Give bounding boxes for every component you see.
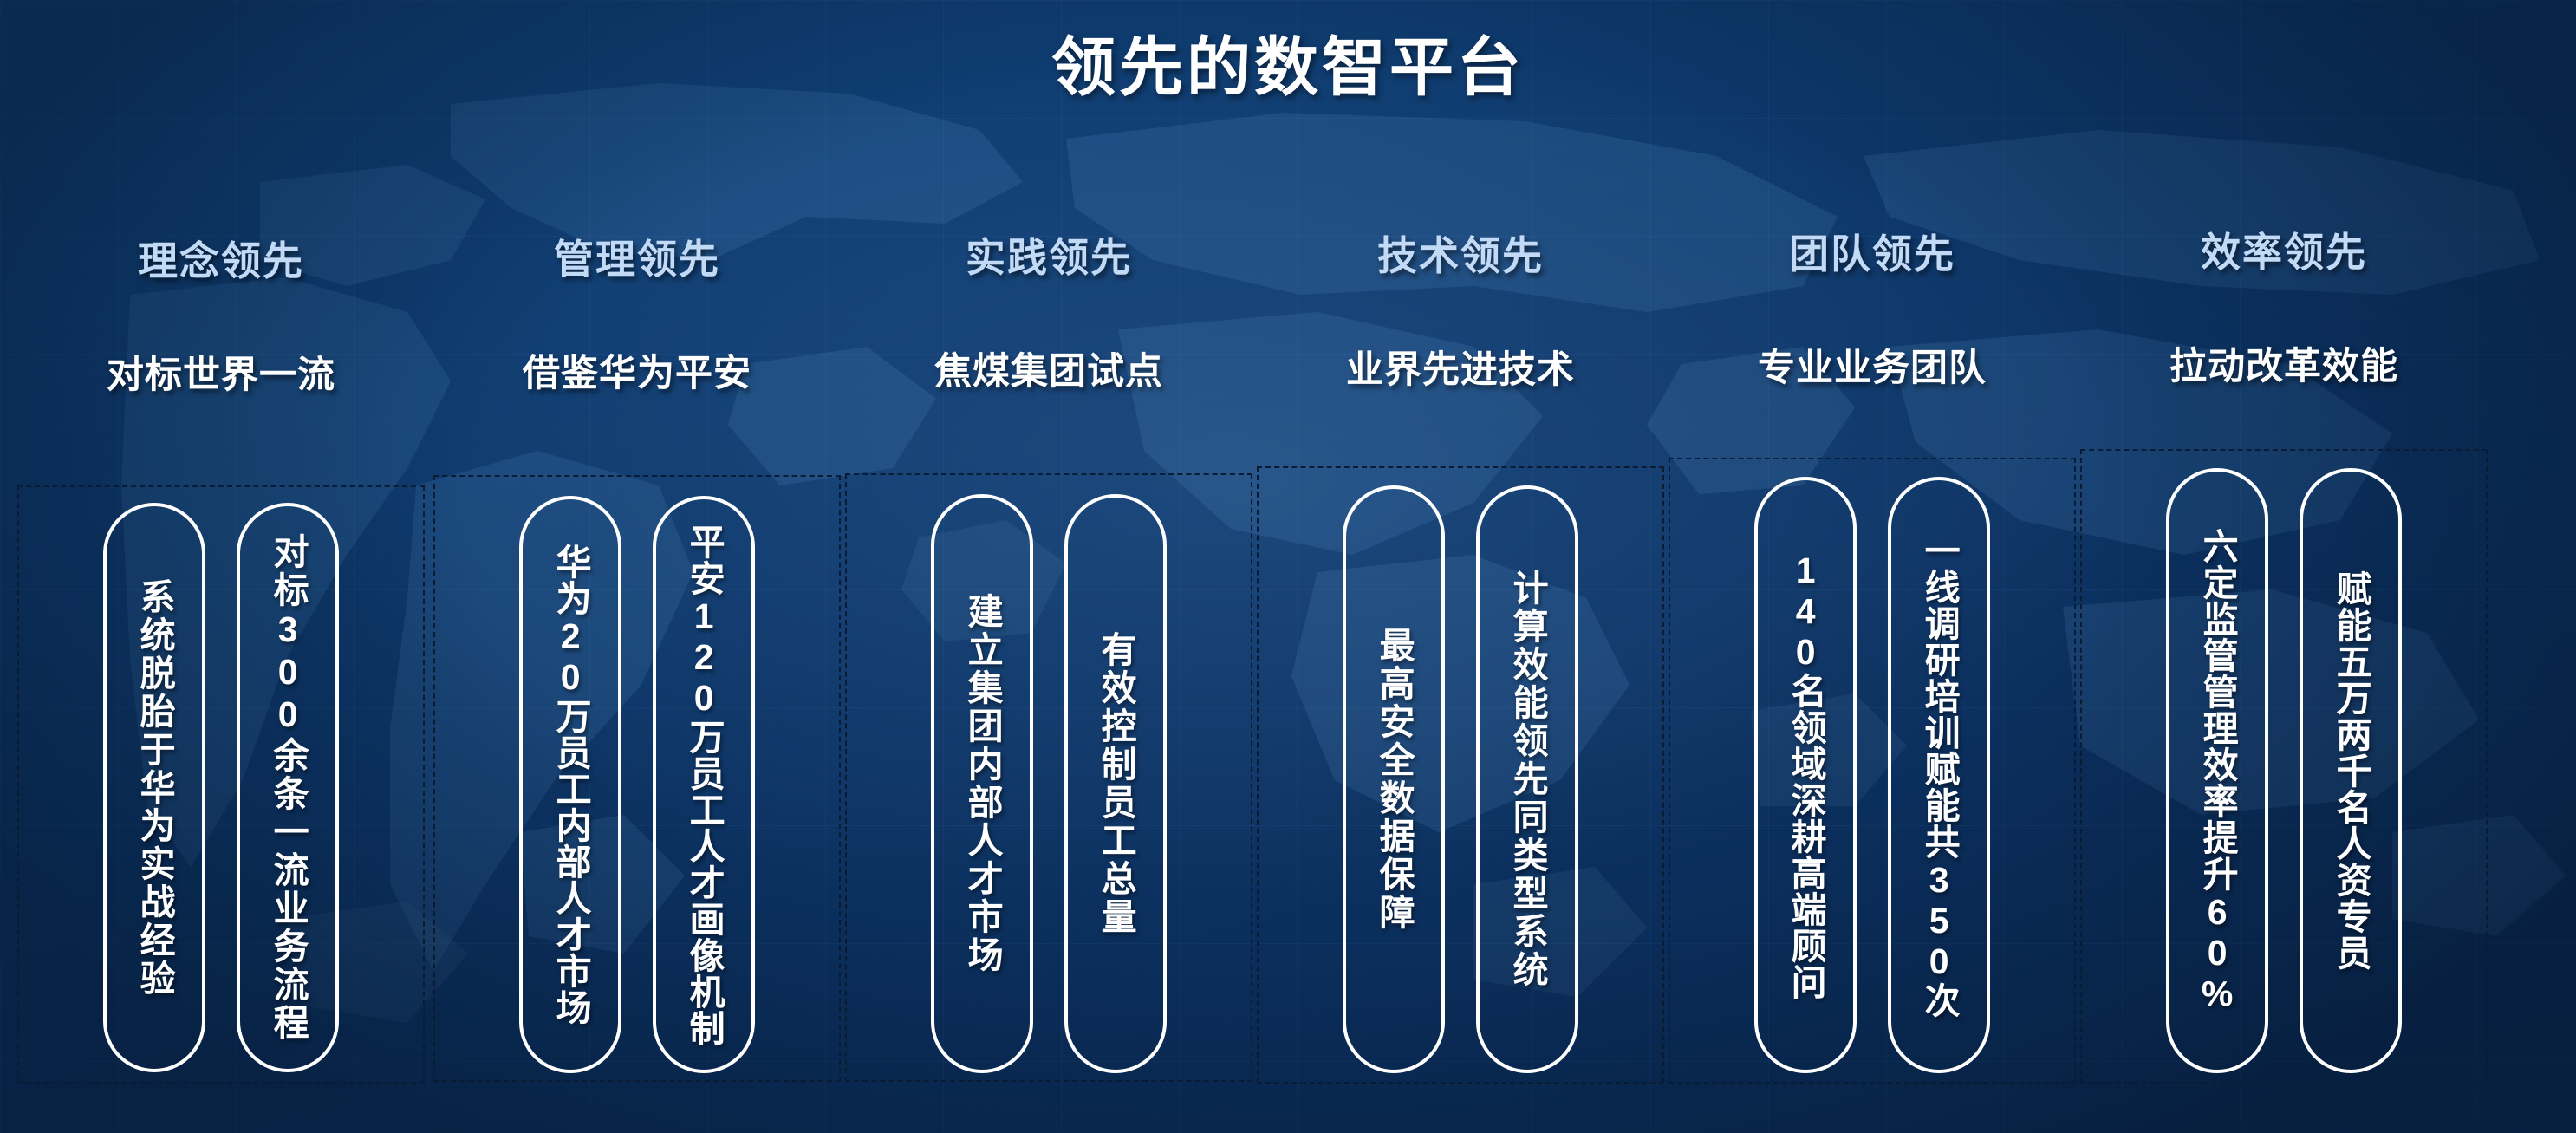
pill-2-1[interactable]: 华为20万员工内部人才市场 [519, 496, 621, 1073]
column-4-subheading: 业界先进技术 [1257, 340, 1664, 394]
column-6: 效率领先 拉动改革效能 六定监管管理效率提升60% 赋能五万两千名人资专员 [2080, 0, 2488, 1133]
pill-6-1[interactable]: 六定监管管理效率提升60% [2166, 468, 2268, 1073]
pill-1-1[interactable]: 系统脱胎于华为实战经验 [103, 503, 205, 1072]
column-4: 技术领先 业界先进技术 最高安全数据保障 计算效能领先同类型系统 [1257, 0, 1664, 1133]
pill-5-1-label: 140名领域深耕高端顾问 [1786, 550, 1825, 1000]
pill-6-2[interactable]: 赋能五万两千名人资专员 [2300, 468, 2402, 1073]
column-6-pills: 六定监管管理效率提升60% 赋能五万两千名人资专员 [2080, 468, 2488, 1073]
pill-4-2-label: 计算效能领先同类型系统 [1508, 570, 1546, 989]
column-2-subheading: 借鉴华为平安 [433, 343, 841, 397]
column-1-heading: 理念领先 [17, 230, 425, 287]
column-2-heading: 管理领先 [433, 228, 841, 285]
column-4-heading: 技术领先 [1257, 225, 1664, 282]
pill-3-1-label: 建立集团内部人才市场 [963, 593, 1001, 974]
pill-2-2[interactable]: 平安120万员工人才画像机制 [653, 496, 755, 1073]
pill-1-1-label: 系统脱胎于华为实战经验 [135, 578, 173, 998]
pill-5-2[interactable]: 一线调研培训赋能共350次 [1888, 477, 1990, 1073]
column-3-pills: 建立集团内部人才市场 有效控制员工总量 [845, 494, 1252, 1073]
pill-3-2-label: 有效控制员工总量 [1096, 631, 1135, 936]
pill-4-1-label: 最高安全数据保障 [1375, 627, 1413, 932]
column-5-pills: 140名领域深耕高端顾问 一线调研培训赋能共350次 [1669, 477, 2076, 1073]
column-1-pills: 系统脱胎于华为实战经验 对标300余条一流业务流程 [17, 503, 425, 1072]
column-5-subheading: 专业业务团队 [1669, 338, 2076, 392]
column-6-heading: 效率领先 [2080, 221, 2488, 278]
column-2: 管理领先 借鉴华为平安 华为20万员工内部人才市场 平安120万员工人才画像机制 [433, 0, 841, 1133]
pill-5-2-label: 一线调研培训赋能共350次 [1920, 532, 1958, 1019]
page-title: 领先的数智平台 [0, 16, 2576, 108]
column-6-subheading: 拉动改革效能 [2080, 336, 2488, 390]
pill-3-2[interactable]: 有效控制员工总量 [1064, 494, 1167, 1073]
column-3: 实践领先 焦煤集团试点 建立集团内部人才市场 有效控制员工总量 [845, 0, 1252, 1133]
pill-6-1-label: 六定监管管理效率提升60% [2198, 528, 2236, 1014]
slide-canvas: 领先的数智平台 理念领先 对标世界一流 系统脱胎于华为实战经验 对标300余条一… [0, 0, 2576, 1133]
column-3-subheading: 焦煤集团试点 [845, 342, 1252, 395]
pill-3-1[interactable]: 建立集团内部人才市场 [931, 494, 1033, 1073]
columns-container: 理念领先 对标世界一流 系统脱胎于华为实战经验 对标300余条一流业务流程 管理… [0, 0, 2576, 1133]
column-1-subheading: 对标世界一流 [17, 345, 425, 399]
column-4-pills: 最高安全数据保障 计算效能领先同类型系统 [1257, 485, 1664, 1073]
pill-4-1[interactable]: 最高安全数据保障 [1343, 485, 1445, 1073]
column-5: 团队领先 专业业务团队 140名领域深耕高端顾问 一线调研培训赋能共350次 [1669, 0, 2076, 1133]
column-1: 理念领先 对标世界一流 系统脱胎于华为实战经验 对标300余条一流业务流程 [17, 0, 425, 1133]
pill-6-2-label: 赋能五万两千名人资专员 [2332, 570, 2370, 971]
pill-1-2-label: 对标300余条一流业务流程 [269, 533, 307, 1042]
pill-5-1[interactable]: 140名领域深耕高端顾问 [1754, 477, 1857, 1073]
column-3-heading: 实践领先 [845, 226, 1252, 283]
pill-2-1-label: 华为20万员工内部人才市场 [551, 544, 589, 1026]
column-5-heading: 团队领先 [1669, 223, 2076, 280]
pill-4-2[interactable]: 计算效能领先同类型系统 [1476, 485, 1578, 1073]
pill-1-2[interactable]: 对标300余条一流业务流程 [237, 503, 339, 1072]
column-2-pills: 华为20万员工内部人才市场 平安120万员工人才画像机制 [433, 496, 841, 1073]
pill-2-2-label: 平安120万员工人才画像机制 [685, 524, 723, 1046]
